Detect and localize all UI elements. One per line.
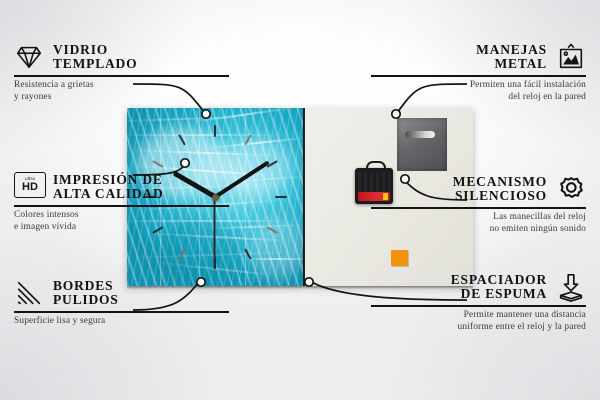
feature-description: Superficie lisa y segura	[14, 313, 229, 328]
foam-spacer	[391, 250, 408, 266]
feature-header: MECANISMO SILENCIOSO	[371, 174, 586, 207]
foam-spacer-icon	[556, 272, 586, 302]
feature-description: Resistencia a grietas y rayones	[14, 77, 229, 104]
ultra-hd-icon: ultra HD	[14, 172, 44, 202]
feature-description: Permite mantener una distancia uniforme …	[371, 307, 586, 334]
metal-hanger-plate	[397, 118, 447, 171]
feature-title: VIDRIO TEMPLADO	[53, 43, 137, 72]
gear-icon	[556, 174, 586, 204]
feature-mecanismo-silencioso[interactable]: MECANISMO SILENCIOSO Las manecillas del …	[371, 174, 586, 235]
infographic-canvas: VIDRIO TEMPLADO Resistencia a grietas y …	[0, 0, 600, 400]
feature-title: MANEJAS METAL	[476, 43, 547, 72]
feature-title: ESPACIADOR DE ESPUMA	[451, 273, 547, 302]
polished-edges-icon	[14, 278, 44, 308]
feature-header: ESPACIADOR DE ESPUMA	[371, 272, 586, 305]
feature-impresion-alta-calidad[interactable]: ultra HD IMPRESIÓN DE ALTA CALIDAD Color…	[14, 172, 229, 233]
feature-title: BORDES PULIDOS	[53, 279, 119, 308]
feature-header: MANEJAS METAL	[371, 42, 586, 75]
feature-title: IMPRESIÓN DE ALTA CALIDAD	[53, 173, 164, 202]
feature-description: Colores intensos e imagen vívida	[14, 207, 229, 234]
feature-description: Permiten una fácil instalación del reloj…	[371, 77, 586, 104]
feature-description: Las manecillas del reloj no emiten ningú…	[371, 209, 586, 236]
feather-highlight	[247, 218, 303, 278]
diamond-icon	[14, 42, 44, 72]
feature-title: MECANISMO SILENCIOSO	[453, 175, 547, 204]
feature-manejas-metal[interactable]: MANEJAS METAL Permiten una fácil instala…	[371, 42, 586, 103]
hanger-keyhole-slot	[405, 131, 435, 138]
feature-header: BORDES PULIDOS	[14, 278, 229, 311]
feature-header: ultra HD IMPRESIÓN DE ALTA CALIDAD	[14, 172, 229, 205]
feature-espaciador-espuma[interactable]: ESPACIADOR DE ESPUMA Permite mantener un…	[371, 272, 586, 333]
feature-vidrio-templado[interactable]: VIDRIO TEMPLADO Resistencia a grietas y …	[14, 42, 229, 103]
hanging-frame-icon	[556, 42, 586, 72]
feather-streak	[187, 108, 296, 124]
feature-bordes-pulidos[interactable]: BORDES PULIDOS Superficie lisa y segura	[14, 278, 229, 328]
feature-header: VIDRIO TEMPLADO	[14, 42, 229, 75]
